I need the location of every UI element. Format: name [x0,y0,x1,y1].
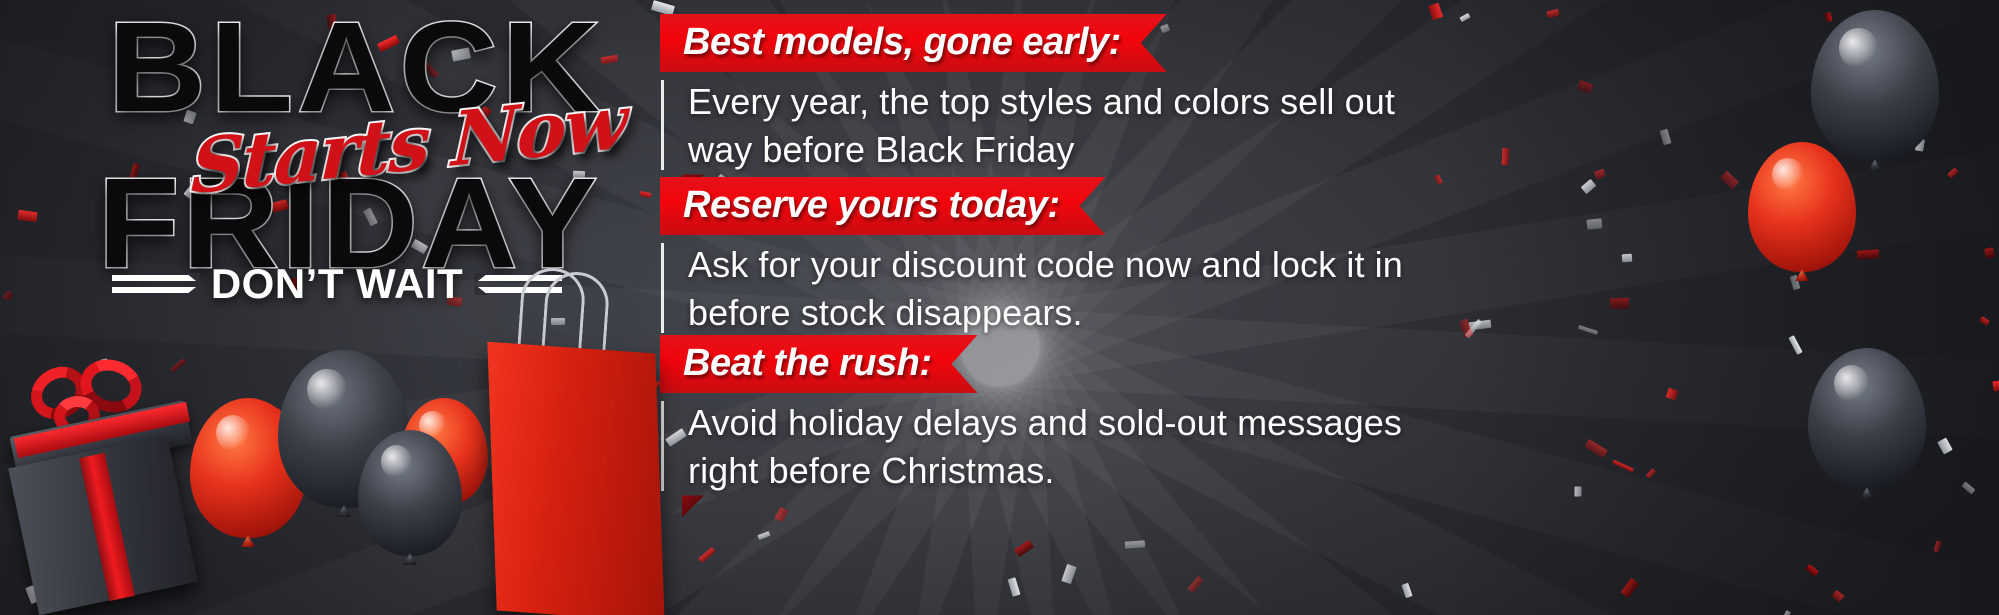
benefit-block: Beat the rush: Avoid holiday delays and … [660,335,1420,495]
black-friday-promo-banner: BLACK FRIDAY Starts Now DON’T WAIT Best … [0,0,1999,615]
vertical-rule [661,80,664,170]
vertical-rule [661,401,664,491]
benefit-title: Reserve yours today: [683,184,1060,226]
benefit-body-wrap: Every year, the top styles and colors se… [660,78,1420,174]
benefit-block: Best models, gone early: Every year, the… [660,14,1420,174]
black-balloon-icon [358,430,462,556]
benefit-title-flag: Reserve yours today: [660,177,1106,235]
benefit-title-flag: Beat the rush: [660,335,977,393]
gift-box-icon [8,358,198,608]
benefit-title-flag: Best models, gone early: [660,14,1167,72]
shopping-bag-icon [478,268,658,615]
red-balloon-icon [1748,142,1856,272]
flag-fold-icon [682,495,704,517]
benefit-body: Every year, the top styles and colors se… [688,78,1408,174]
benefit-title: Beat the rush: [683,342,931,384]
benefits-panel: Best models, gone early: Every year, the… [660,0,1440,615]
rule-left [112,273,199,295]
benefit-body-wrap: Ask for your discount code now and lock … [660,241,1420,337]
headline-subline: DON’T WAIT [211,260,463,308]
benefit-body-wrap: Avoid holiday delays and sold-out messag… [660,399,1420,495]
benefit-body: Avoid holiday delays and sold-out messag… [688,399,1408,495]
benefit-title: Best models, gone early: [683,21,1121,63]
benefit-block: Reserve yours today: Ask for your discou… [660,177,1420,337]
benefit-body: Ask for your discount code now and lock … [688,241,1408,337]
vertical-rule [661,243,664,333]
